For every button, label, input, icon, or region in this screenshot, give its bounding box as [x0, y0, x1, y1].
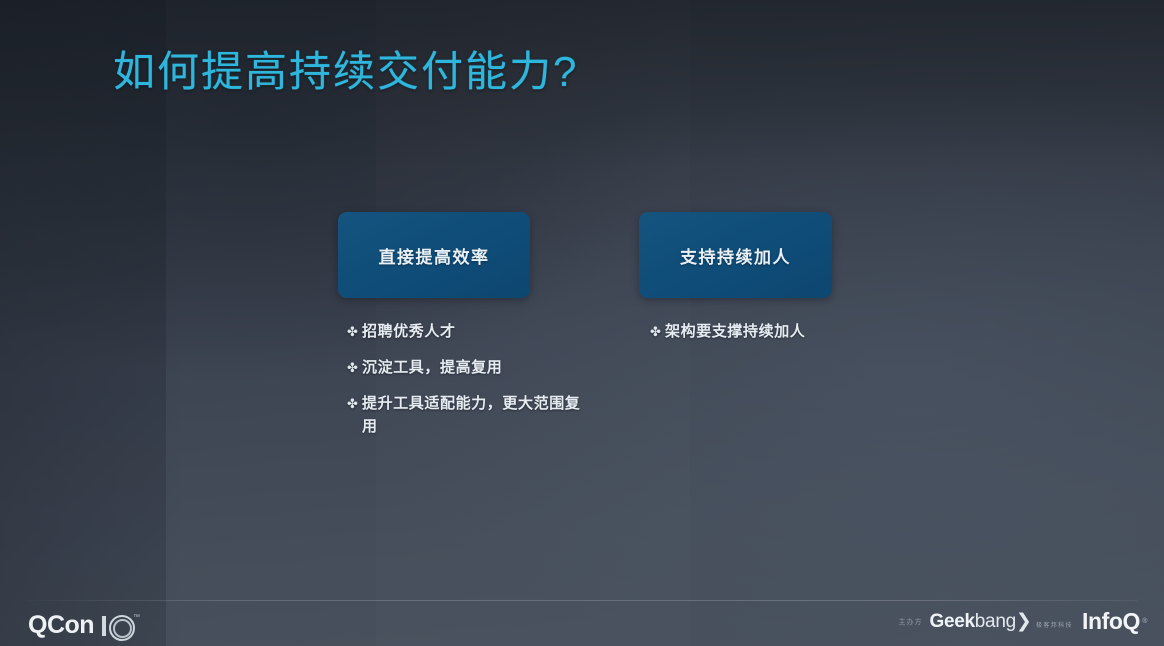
column-2-bullet-list: ✤ 架构要支撑持续加人 — [650, 320, 885, 356]
geekbang-logo: Geekbang❯ 极客邦科技 — [930, 612, 1073, 633]
infoq-logo: InfoQ® — [1082, 609, 1140, 633]
presentation-slide: 如何提高持续交付能力? 直接提高效率 ✤ 招聘优秀人才 ✤ 沉淀工具，提高复用 … — [0, 0, 1164, 646]
qcon-mark-inner-ring — [113, 619, 132, 638]
clover-bullet-icon: ✤ — [650, 320, 664, 343]
list-item-label: 提升工具适配能力，更大范围复用 — [362, 392, 582, 438]
qcon-mark-bar — [102, 616, 106, 636]
geekbang-subtitle: 极客邦科技 — [1036, 623, 1073, 629]
footer-divider — [27, 600, 1137, 601]
list-item: ✤ 沉淀工具，提高复用 — [347, 356, 582, 379]
clover-bullet-icon: ✤ — [347, 392, 361, 415]
list-item-label: 招聘优秀人才 — [362, 320, 582, 343]
infoq-trademark: ® — [1142, 610, 1147, 634]
list-item-label: 沉淀工具，提高复用 — [362, 356, 582, 379]
list-item: ✤ 提升工具适配能力，更大范围复用 — [347, 392, 582, 438]
column-1-bullet-list: ✤ 招聘优秀人才 ✤ 沉淀工具，提高复用 ✤ 提升工具适配能力，更大范围复用 — [347, 320, 582, 451]
geekbang-bold-text: Geek — [930, 611, 975, 632]
slide-title: 如何提高持续交付能力? — [113, 38, 578, 99]
qcon-wordmark: QCon — [28, 611, 94, 640]
host-label: 主办方 — [899, 619, 923, 633]
infoq-wordmark: InfoQ — [1082, 608, 1140, 634]
sponsor-logos: 主办方 Geekbang❯ 极客邦科技 InfoQ® — [899, 609, 1141, 633]
clover-bullet-icon: ✤ — [347, 356, 361, 379]
qcon-logo: QCon ™ — [28, 611, 142, 640]
list-item-label: 架构要支撑持续加人 — [665, 320, 885, 343]
qcon-io-anniversary-mark-icon: ™ — [102, 613, 142, 639]
column-2-heading-label: 支持持续加人 — [680, 243, 791, 268]
column-1-heading-box: 直接提高效率 — [338, 212, 530, 298]
clover-bullet-icon: ✤ — [347, 320, 361, 343]
list-item: ✤ 招聘优秀人才 — [347, 320, 582, 343]
column-2-heading-box: 支持持续加人 — [639, 212, 832, 298]
qcon-trademark: ™ — [133, 614, 140, 621]
geekbang-light-text: bang — [975, 611, 1016, 632]
column-1-heading-label: 直接提高效率 — [379, 243, 490, 268]
geekbang-wordmark: Geekbang❯ — [930, 611, 1032, 632]
list-item: ✤ 架构要支撑持续加人 — [650, 320, 885, 343]
chevron-right-icon: ❯ — [1016, 611, 1032, 632]
